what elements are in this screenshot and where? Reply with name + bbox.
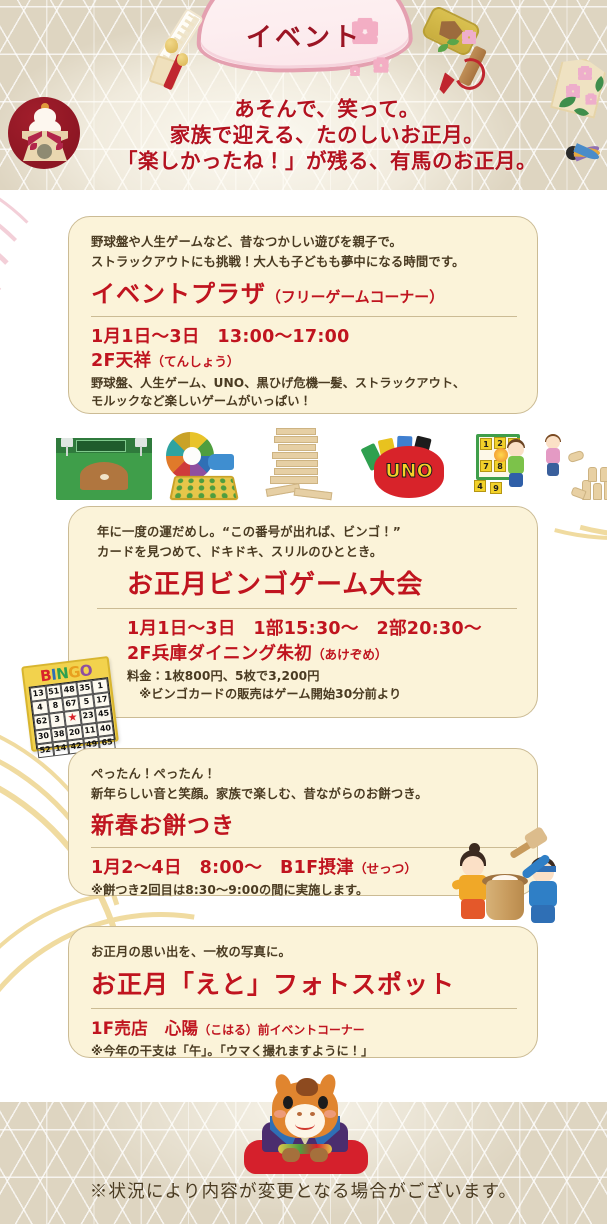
headline-line-1: あそんで、笑って。	[92, 96, 562, 122]
card-lead-line: カードを見つめて、ドキドキ、スリルのひととき。	[97, 543, 517, 563]
card-detail-venue-ruby: （こはる）前イベントコーナー	[198, 1023, 364, 1037]
card-detail-venue-ruby: （あけぞめ）	[312, 647, 388, 662]
molkky-pin	[588, 467, 597, 482]
horse-mane	[296, 1078, 318, 1096]
strike-out-panel: 1	[480, 438, 492, 450]
boy-body	[508, 456, 524, 474]
card-detail-venue: 2F天祥（てんしょう）	[91, 349, 517, 374]
card-title-main: 新春お餅つき	[91, 813, 235, 839]
card-detail-venue: 2F兵庫ダイニング朱初（あけぞめ）	[127, 642, 517, 667]
card-lead: お正月の思い出を、一枚の写真に。	[91, 943, 517, 963]
card-lead-line: 新年らしい音と笑顔。家族で楽しむ、昔ながらのお餅つき。	[91, 785, 517, 805]
horse-hand-left	[282, 1148, 300, 1162]
card-details-red: 1F売店 心陽（こはる）前イベントコーナー	[91, 1017, 517, 1042]
plum-blossom-icon	[462, 30, 476, 44]
jenga-block-fallen	[294, 488, 333, 501]
game-illustration-strip: UNO 1 2 3 7 8 4 9	[56, 424, 566, 500]
jenga-block	[276, 460, 318, 467]
horse-mascot-icon	[252, 1082, 358, 1174]
card-details-note: 野球盤、人生ゲーム、UNO、黒ひげ危機一髪、ストラックアウト、 モルックなど楽し…	[91, 374, 517, 410]
card-title: お正月「えと」フォトスポット	[91, 965, 517, 1001]
mochi-pounding-icon	[452, 838, 568, 924]
card-lead-line: ぺったん！ぺったん！	[91, 765, 517, 785]
page-headline: あそんで、笑って。 家族で迎える、たのしいお正月。 「楽しかったね！」が残る、有…	[92, 96, 562, 174]
fan-banner-title: イベント	[196, 17, 412, 54]
mochi-center-dot	[37, 144, 52, 159]
bell-icon	[165, 38, 178, 53]
strike-out-panel-fallen: 9	[490, 482, 502, 494]
strike-out-panel: 7	[480, 460, 492, 472]
roulette-hub	[183, 447, 201, 465]
headline-line-2: 家族で迎える、たのしいお正月。	[92, 122, 562, 148]
card-lead: ぺったん！ぺったん！ 新年らしい音と笑顔。家族で楽しむ、昔ながらのお餅つき。	[91, 765, 517, 804]
card-detail-schedule: 1月1日〜3日 1部15:30〜 2部20:30〜	[127, 617, 517, 642]
card-detail-schedule: 1月1日〜3日 13:00〜17:00	[91, 325, 517, 349]
baseball-mound	[100, 474, 109, 480]
stadium-light-pole	[66, 446, 68, 456]
bell-icon	[177, 53, 188, 66]
headline-line-3: 「楽しかったね！」が残る、有馬のお正月。	[92, 148, 562, 174]
molkky-throwing-pin	[567, 450, 585, 464]
uno-cards-icon: UNO	[362, 434, 448, 500]
card-detail-venue-ruby: （てんしょう）	[151, 354, 239, 369]
card-detail-venue: 1F売店 心陽（こはる）前イベントコーナー	[91, 1017, 517, 1042]
card-note-line: 料金：1枚800円、5枚で3,200円	[127, 667, 517, 685]
girl-legs	[547, 463, 559, 476]
jenga-block	[270, 476, 318, 484]
card-lead: 年に一度の運だめし。“この番号が出れば、ビンゴ！” カードを見つめて、ドキドキ、…	[97, 523, 517, 562]
horse-nostril-left	[297, 1112, 302, 1116]
card-divider	[97, 608, 517, 609]
card-title-sub: （フリーゲームコーナー）	[266, 288, 444, 306]
card-detail-venue-name: 2F天祥	[91, 351, 151, 371]
horse-eye-right	[318, 1096, 328, 1109]
life-game-board-squares	[172, 477, 236, 497]
horse-nostril-right	[310, 1112, 315, 1116]
card-details-red: 1月1日〜3日 13:00〜17:00 2F天祥（てんしょう）	[91, 325, 517, 374]
event-card-eto-photo-spot[interactable]: お正月の思い出を、一枚の写真に。 お正月「えと」フォトスポット 1F売店 心陽（…	[68, 926, 538, 1058]
card-detail-schedule: 1月2〜4日 8:00〜 B1F摂津	[91, 858, 354, 878]
plum-blossom-icon	[578, 66, 592, 80]
horse-cheek-left	[274, 1110, 286, 1118]
event-card-new-year-bingo[interactable]: 年に一度の運だめし。“この番号が出れば、ビンゴ！” カードを見つめて、ドキドキ、…	[68, 506, 538, 718]
sakura-icon	[350, 66, 360, 76]
strike-out-panel-fallen: 4	[474, 480, 486, 492]
jenga-block	[276, 428, 316, 435]
bingo-cell: 52	[37, 742, 54, 758]
footer-disclaimer: ※状況により内容が変更となる場合がございます。	[0, 1178, 607, 1203]
jenga-block	[274, 468, 318, 475]
card-detail-venue-ruby: （せっつ）	[354, 861, 417, 876]
stadium-light-pole	[140, 446, 142, 456]
boy-legs	[509, 473, 523, 487]
horse-hand-right	[310, 1148, 328, 1162]
card-divider	[91, 316, 517, 317]
sakura-icon	[373, 57, 388, 72]
life-game-board	[169, 476, 239, 500]
roulette-wheel-icon	[166, 432, 214, 480]
jenga-block	[278, 444, 316, 451]
horse-smile	[295, 1118, 315, 1130]
horse-cheek-right	[324, 1110, 336, 1118]
card-title-main: イベントプラザ	[91, 280, 266, 308]
jenga-tower-icon	[266, 428, 334, 500]
card-details-note: 料金：1枚800円、5枚で3,200円 ※ビンゴカードの販売はゲーム開始30分前…	[97, 667, 517, 703]
boy-head	[508, 442, 524, 457]
card-note-line: ※今年の干支は「午」。「ウマく撮れますように！」	[91, 1042, 517, 1060]
event-card-event-plaza[interactable]: 野球盤や人生ゲームなど、昔なつかしい遊びを親子で。 ストラックアウトにも挑戦！大…	[68, 216, 538, 414]
bingo-card-icon: BINGO 1351483514867517623★23453038201140…	[21, 656, 119, 752]
kagami-mochi-icon	[8, 97, 80, 169]
card-note-line: 野球盤、人生ゲーム、UNO、黒ひげ危機一髪、ストラックアウト、	[91, 374, 517, 392]
card-title-main: お正月ビンゴゲーム大会	[127, 570, 423, 600]
horse-eye-left	[283, 1096, 293, 1109]
card-lead-line: 野球盤や人生ゲームなど、昔なつかしい遊びを親子で。	[91, 233, 517, 253]
card-title: お正月ビンゴゲーム大会	[97, 564, 517, 601]
man-legs	[531, 905, 555, 923]
card-lead-line: ストラックアウトにも挑戦！大人も子どもも夢中になる時間です。	[91, 253, 517, 273]
jenga-block	[274, 436, 318, 443]
woman-head	[462, 856, 484, 877]
card-detail-venue-name: 2F兵庫ダイニング朱初	[127, 644, 312, 664]
card-note-line: モルックなど楽しいゲームがいっぱい！	[91, 392, 517, 410]
card-details-red: 1月1日〜3日 1部15:30〜 2部20:30〜 2F兵庫ダイニング朱初（あけ…	[97, 617, 517, 667]
strike-out-icon: 1 2 3 7 8 4 9	[472, 432, 528, 500]
card-divider	[91, 1008, 517, 1009]
baseball-scoreboard	[76, 440, 126, 452]
bingo-card-grid: 1351483514867517623★23453038201140521442…	[29, 677, 116, 749]
plum-blossom-icon	[585, 93, 596, 104]
card-note-line: ※ビンゴカードの販売はゲーム開始30分前より	[127, 685, 517, 703]
molkky-pin	[600, 467, 607, 482]
molkky-pin	[593, 483, 602, 500]
card-title-main: お正月「えと」フォトスポット	[91, 970, 455, 999]
bingo-cell: 14	[52, 740, 69, 756]
baseball-ball-icon	[494, 448, 508, 462]
card-lead-line: 年に一度の運だめし。“この番号が出れば、ビンゴ！”	[97, 523, 517, 543]
card-details-note: ※今年の干支は「午」。「ウマく撮れますように！」	[91, 1042, 517, 1060]
uno-logo-text: UNO	[374, 460, 444, 482]
card-lead: 野球盤や人生ゲームなど、昔なつかしい遊びを親子で。 ストラックアウトにも挑戦！大…	[91, 233, 517, 272]
card-title: 新春お餅つき	[91, 806, 517, 840]
card-detail-venue-name: 1F売店 心陽	[91, 1019, 198, 1038]
woman-legs	[461, 899, 485, 919]
life-game-car-icon	[208, 454, 234, 470]
girl-body	[546, 448, 560, 464]
man-body	[529, 881, 557, 907]
usu-mortar	[486, 880, 524, 920]
baseball-board-icon	[56, 438, 152, 500]
jenga-block	[272, 452, 318, 459]
life-game-icon	[164, 432, 236, 500]
molkky-icon	[544, 434, 607, 500]
card-title: イベントプラザ（フリーゲームコーナー）	[91, 274, 517, 309]
card-lead-line: お正月の思い出を、一枚の写真に。	[91, 943, 517, 963]
bingo-letter: O	[79, 661, 93, 680]
poster-root: イベント あそんで、笑って。 家族で迎える、たのしいお正月。 「楽しかったね！」…	[0, 0, 607, 1224]
